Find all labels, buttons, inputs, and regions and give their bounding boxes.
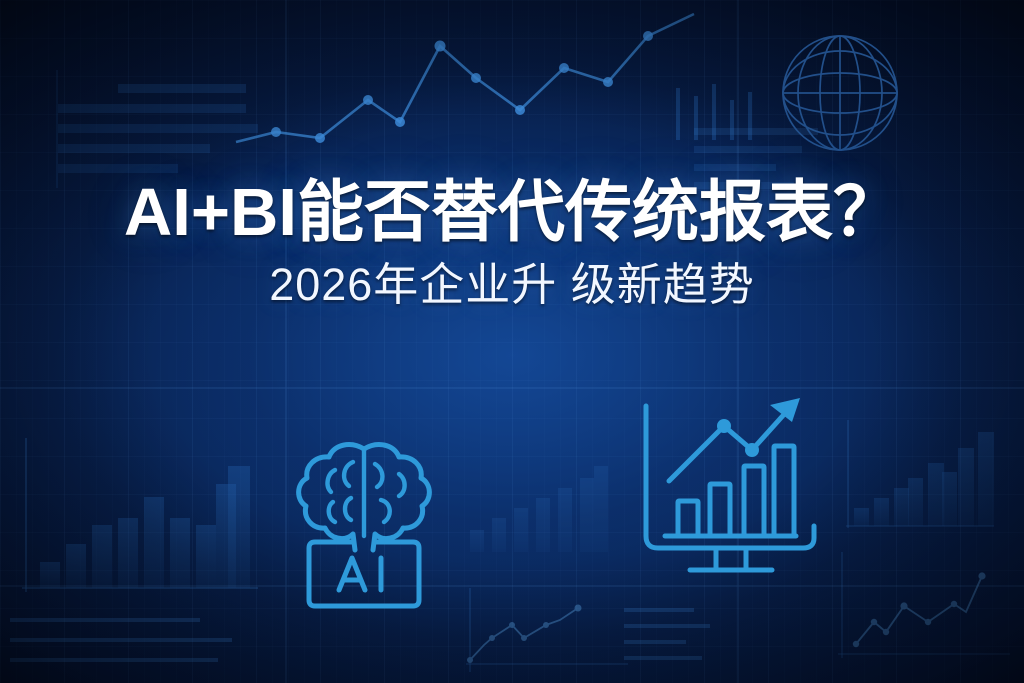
monitor-bars-icon bbox=[678, 446, 794, 536]
bg-bar-chart-centre bbox=[470, 466, 608, 552]
trend-arrow-icon bbox=[669, 398, 800, 481]
ai-badge-label bbox=[339, 558, 381, 590]
ai-badge-box bbox=[309, 542, 419, 606]
bg-hlines-bottom-centre bbox=[624, 608, 710, 660]
page-subtitle: 2026年企业升 级新趋势 bbox=[0, 260, 1024, 310]
bg-vertical-ticks bbox=[676, 84, 752, 140]
bg-line-chart-bottom-centre bbox=[466, 588, 628, 672]
headline-block: AI+BI能否替代传统报表？ 2026年企业升 级新趋势 bbox=[0, 178, 1024, 309]
page-title: AI+BI能否替代传统报表？ bbox=[0, 178, 1024, 248]
monitor-bar-chart-icon bbox=[628, 388, 833, 584]
brain-ai-icon bbox=[289, 432, 439, 614]
bg-bar-chart-right bbox=[846, 420, 994, 528]
bg-hbar-top-left bbox=[56, 70, 258, 188]
bg-line-chart-bottom-right bbox=[838, 552, 1010, 658]
poster-canvas: AI+BI能否替代传统报表？ 2026年企业升 级新趋势 bbox=[0, 0, 1024, 683]
bg-bar-chart-left bbox=[22, 438, 258, 592]
hero-line-chart bbox=[236, 14, 694, 143]
bg-hlines-lower-left bbox=[10, 618, 232, 662]
globe-wireframe-icon bbox=[776, 18, 904, 168]
brain-outline-icon bbox=[299, 445, 430, 550]
